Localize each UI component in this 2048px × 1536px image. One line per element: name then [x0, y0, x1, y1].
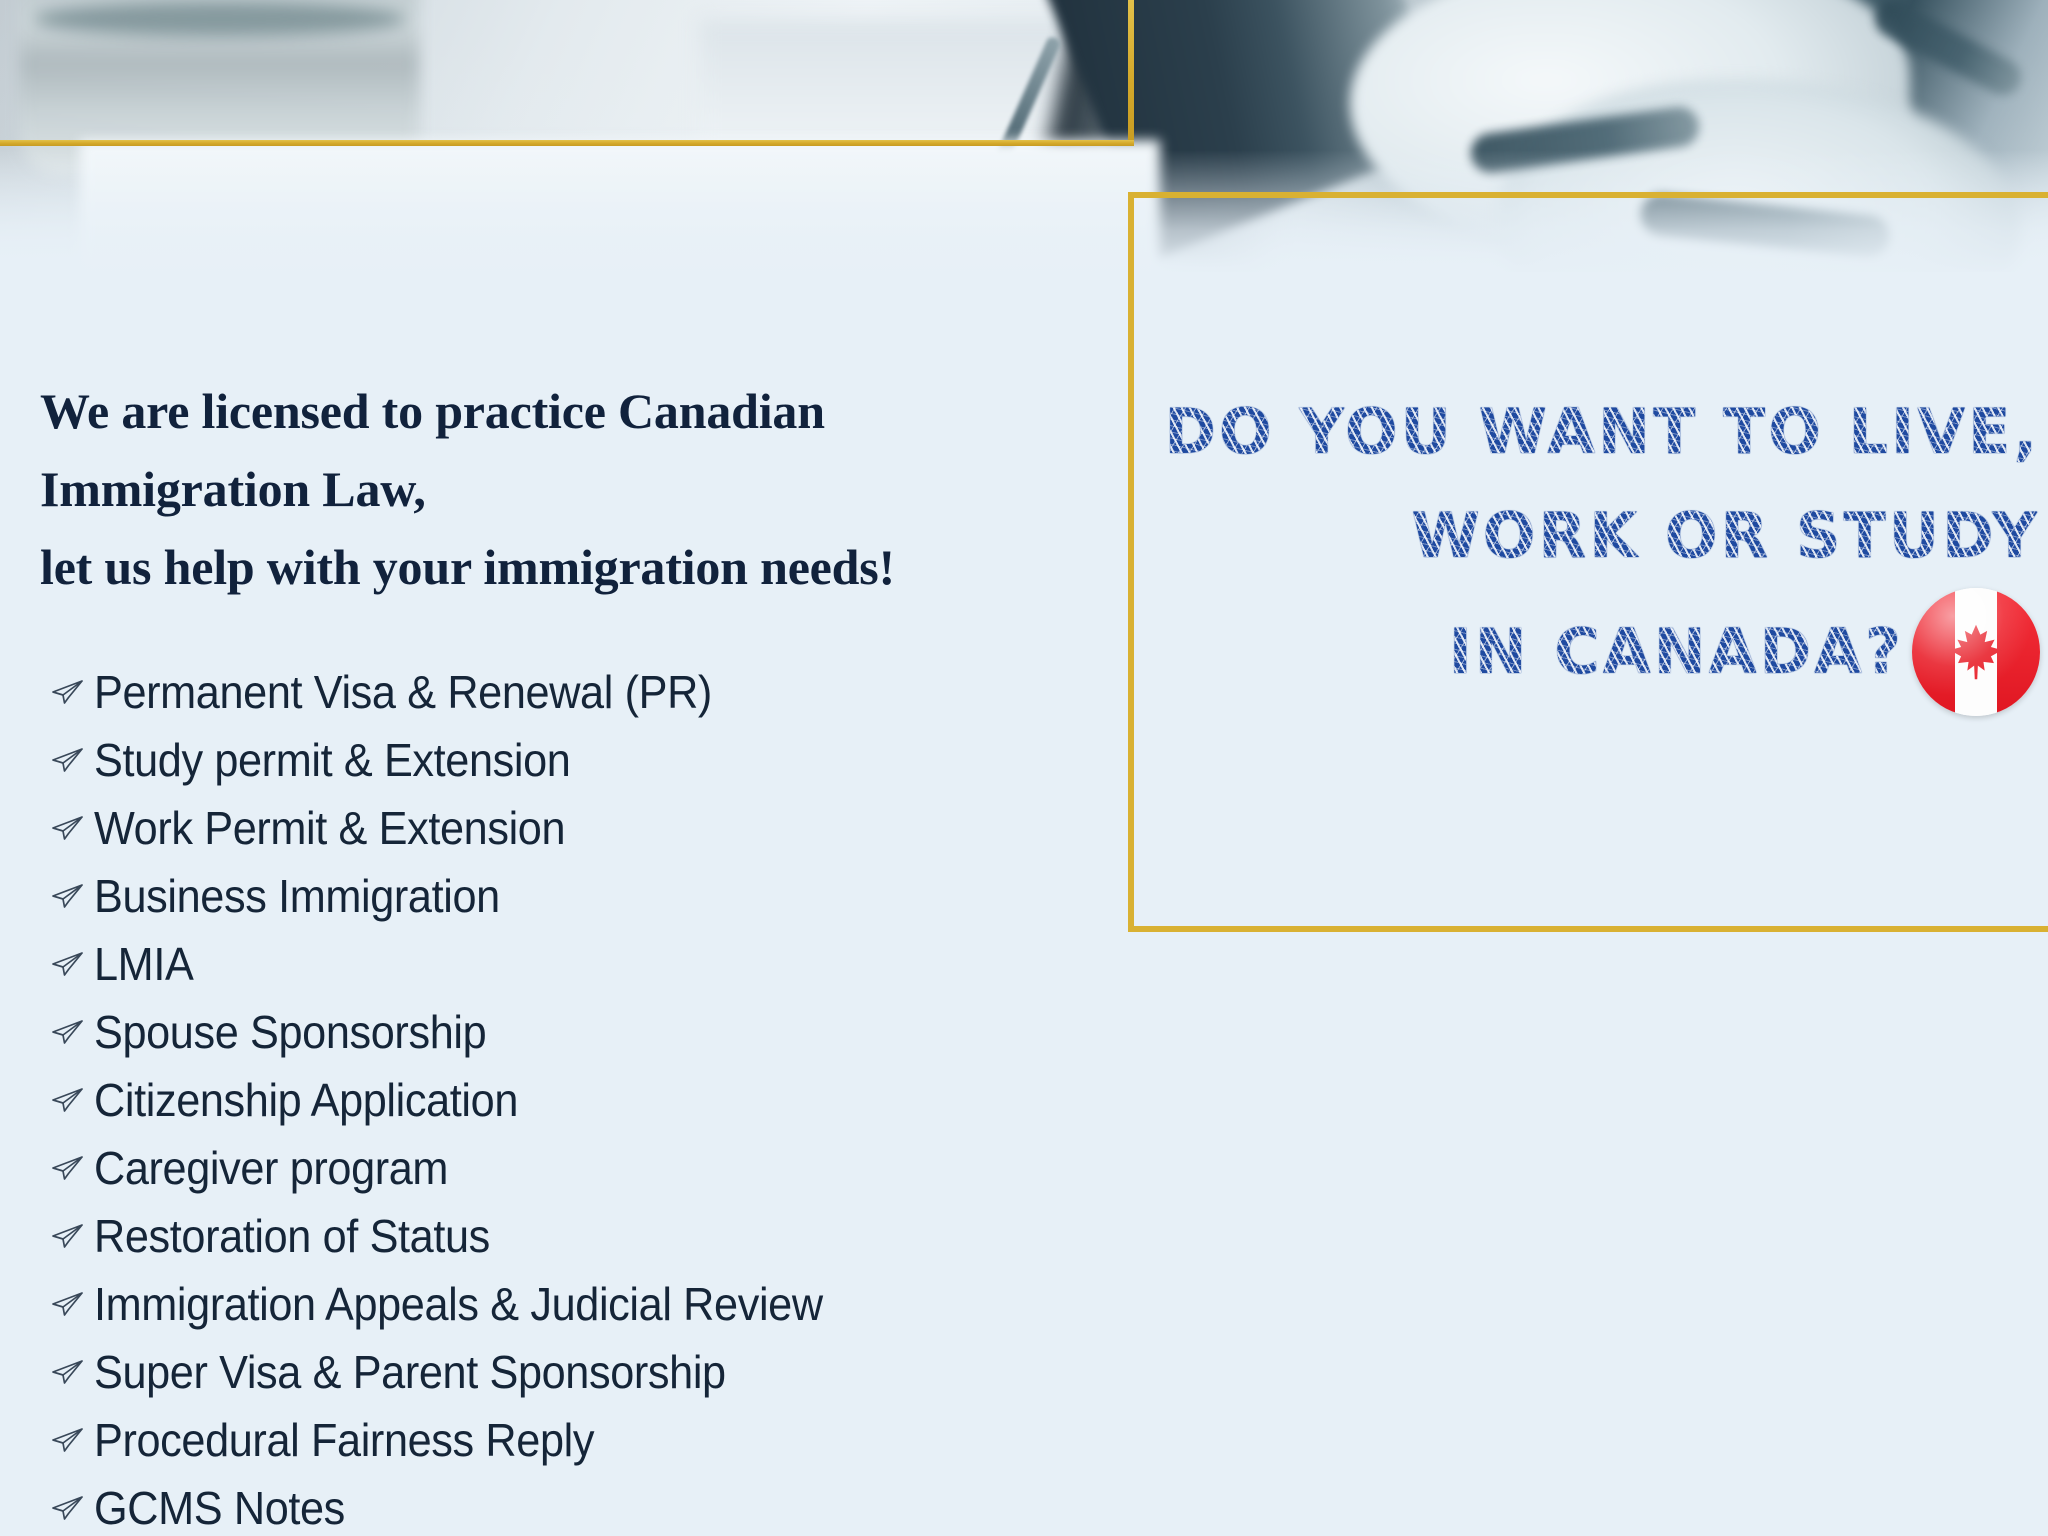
paper-plane-icon [40, 747, 94, 773]
paper-plane-icon [40, 679, 94, 705]
promo-line-2-text: work or study [1411, 499, 2040, 572]
paper-plane-icon [40, 1019, 94, 1045]
paper-plane-icon [40, 1155, 94, 1181]
list-item-label: Spouse Sponsorship [94, 1006, 486, 1058]
list-item: Spouse Sponsorship [40, 998, 1100, 1066]
paper-plane-icon [40, 1495, 94, 1521]
promo-headline-block: Do you want to live, work or study in Ca… [1150, 380, 2040, 716]
paper-plane-icon [40, 815, 94, 841]
list-item-label: LMIA [94, 938, 193, 990]
list-item-label: Restoration of Status [94, 1210, 490, 1262]
list-item: Citizenship Application [40, 1066, 1100, 1134]
page-title-line-1: We are licensed to practice Canadian [40, 372, 1100, 450]
canada-flag-badge-icon [1912, 588, 2040, 716]
paper-plane-icon [40, 1427, 94, 1453]
promo-line-3: in Canada? [1150, 588, 2040, 716]
page-title: We are licensed to practice Canadian Imm… [40, 372, 1100, 606]
gold-frame-horizontal-left [0, 140, 1134, 146]
paper-plane-icon [40, 1359, 94, 1385]
list-item-label: GCMS Notes [94, 1482, 345, 1534]
list-item: Work Permit & Extension [40, 794, 1100, 862]
list-item: Immigration Appeals & Judicial Review [40, 1270, 1100, 1338]
paper-plane-icon [40, 1291, 94, 1317]
promo-line-1-text: Do you want to live, [1165, 395, 2040, 468]
immigration-law-poster: We are licensed to practice Canadian Imm… [0, 0, 2048, 1536]
list-item-label: Procedural Fairness Reply [94, 1414, 594, 1466]
list-item: Procedural Fairness Reply [40, 1406, 1100, 1474]
list-item: Super Visa & Parent Sponsorship [40, 1338, 1100, 1406]
list-item: Restoration of Status [40, 1202, 1100, 1270]
left-content-column: We are licensed to practice Canadian Imm… [40, 372, 1100, 1536]
promo-line-3-text: in Canada? [1449, 600, 1904, 704]
promo-line-1: Do you want to live, [1150, 380, 2040, 484]
page-title-line-3: let us help with your immigration needs! [40, 528, 1100, 606]
list-item-label: Caregiver program [94, 1142, 448, 1194]
paper-plane-icon [40, 1223, 94, 1249]
list-item-label: Super Visa & Parent Sponsorship [94, 1346, 726, 1398]
list-item: LMIA [40, 930, 1100, 998]
paper-plane-icon [40, 951, 94, 977]
services-list: Permanent Visa & Renewal (PR) Study perm… [40, 658, 1100, 1536]
maple-leaf-icon [1945, 621, 2007, 683]
paper-plane-icon [40, 1087, 94, 1113]
paper-plane-icon [40, 883, 94, 909]
list-item-label: Business Immigration [94, 870, 500, 922]
hero-photo-glass-rim [34, 2, 406, 36]
list-item-label: Study permit & Extension [94, 734, 570, 786]
list-item: GCMS Notes [40, 1474, 1100, 1536]
list-item-label: Work Permit & Extension [94, 802, 565, 854]
page-title-line-2: Immigration Law, [40, 450, 1100, 528]
list-item: Caregiver program [40, 1134, 1100, 1202]
gold-frame-vertical-top [1128, 0, 1134, 146]
list-item: Permanent Visa & Renewal (PR) [40, 658, 1100, 726]
promo-line-2: work or study [1150, 484, 2040, 588]
list-item: Business Immigration [40, 862, 1100, 930]
list-item-label: Immigration Appeals & Judicial Review [94, 1278, 823, 1330]
list-item-label: Citizenship Application [94, 1074, 518, 1126]
list-item-label: Permanent Visa & Renewal (PR) [94, 666, 712, 718]
list-item: Study permit & Extension [40, 726, 1100, 794]
